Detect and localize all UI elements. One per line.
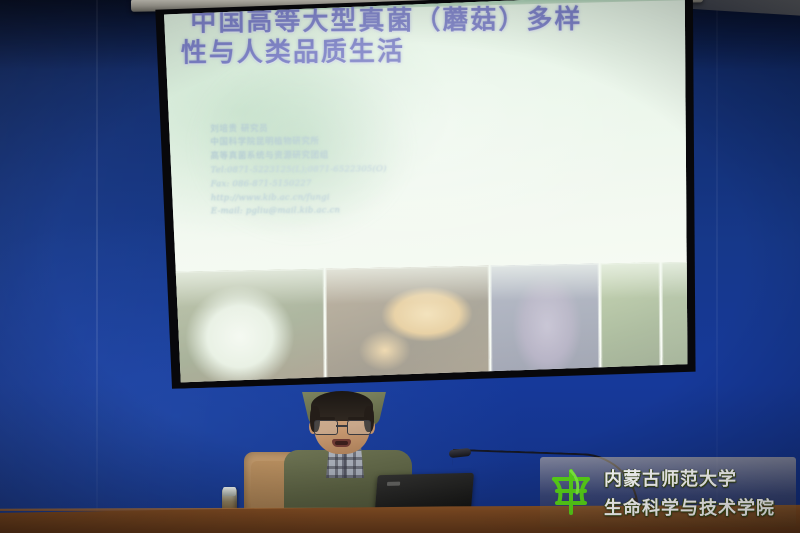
photo-scene: Chinese Academy of Sciences 中国高等大型真菌（蘑菇）… bbox=[0, 0, 800, 533]
screen-surface: Chinese Academy of Sciences 中国高等大型真菌（蘑菇）… bbox=[159, 0, 697, 385]
watermark-text-block: 内蒙古师范大学 生命科学与技术学院 bbox=[604, 465, 775, 520]
laptop-brand-logo bbox=[387, 482, 400, 486]
slide-photo-strip bbox=[162, 262, 697, 385]
watermark-line-1: 内蒙古师范大学 bbox=[604, 465, 775, 491]
slide-title: 中国高等大型真菌（蘑菇）多样 性与人类品质生活 bbox=[191, 4, 675, 71]
projection-screen: Chinese Academy of Sciences 中国高等大型真菌（蘑菇）… bbox=[135, 0, 712, 394]
orange-bracket-fungus-photo bbox=[327, 266, 490, 385]
inner-mongolia-normal-university-logo bbox=[544, 465, 598, 519]
coral-fungus-photo bbox=[162, 270, 325, 385]
watermark-line-2: 生命科学与技术学院 bbox=[604, 494, 775, 520]
wall-seam-right bbox=[716, 0, 718, 533]
green-forest-photo bbox=[601, 263, 661, 382]
glasses-lens-right bbox=[347, 420, 371, 435]
glasses-bridge bbox=[336, 425, 347, 427]
presentation-slide: Chinese Academy of Sciences 中国高等大型真菌（蘑菇）… bbox=[159, 0, 697, 385]
glasses-lens-left bbox=[314, 420, 338, 435]
eyeglasses-icon bbox=[313, 420, 371, 433]
presenter-mouth-inner bbox=[335, 441, 348, 445]
bottle-cap bbox=[223, 487, 236, 496]
presenter-mouth bbox=[332, 439, 351, 447]
university-watermark: 内蒙古师范大学 生命科学与技术学院 bbox=[540, 457, 796, 527]
purple-mushroom-photo bbox=[491, 264, 600, 384]
slide-title-line-2: 性与人类品质生活 bbox=[181, 36, 674, 71]
wall-seam-left bbox=[96, 0, 98, 533]
slide-body-text: 刘培贵 研究员 中国科学院昆明植物研究所 高等真菌系统与资源研究团组 Tel:0… bbox=[211, 121, 618, 220]
